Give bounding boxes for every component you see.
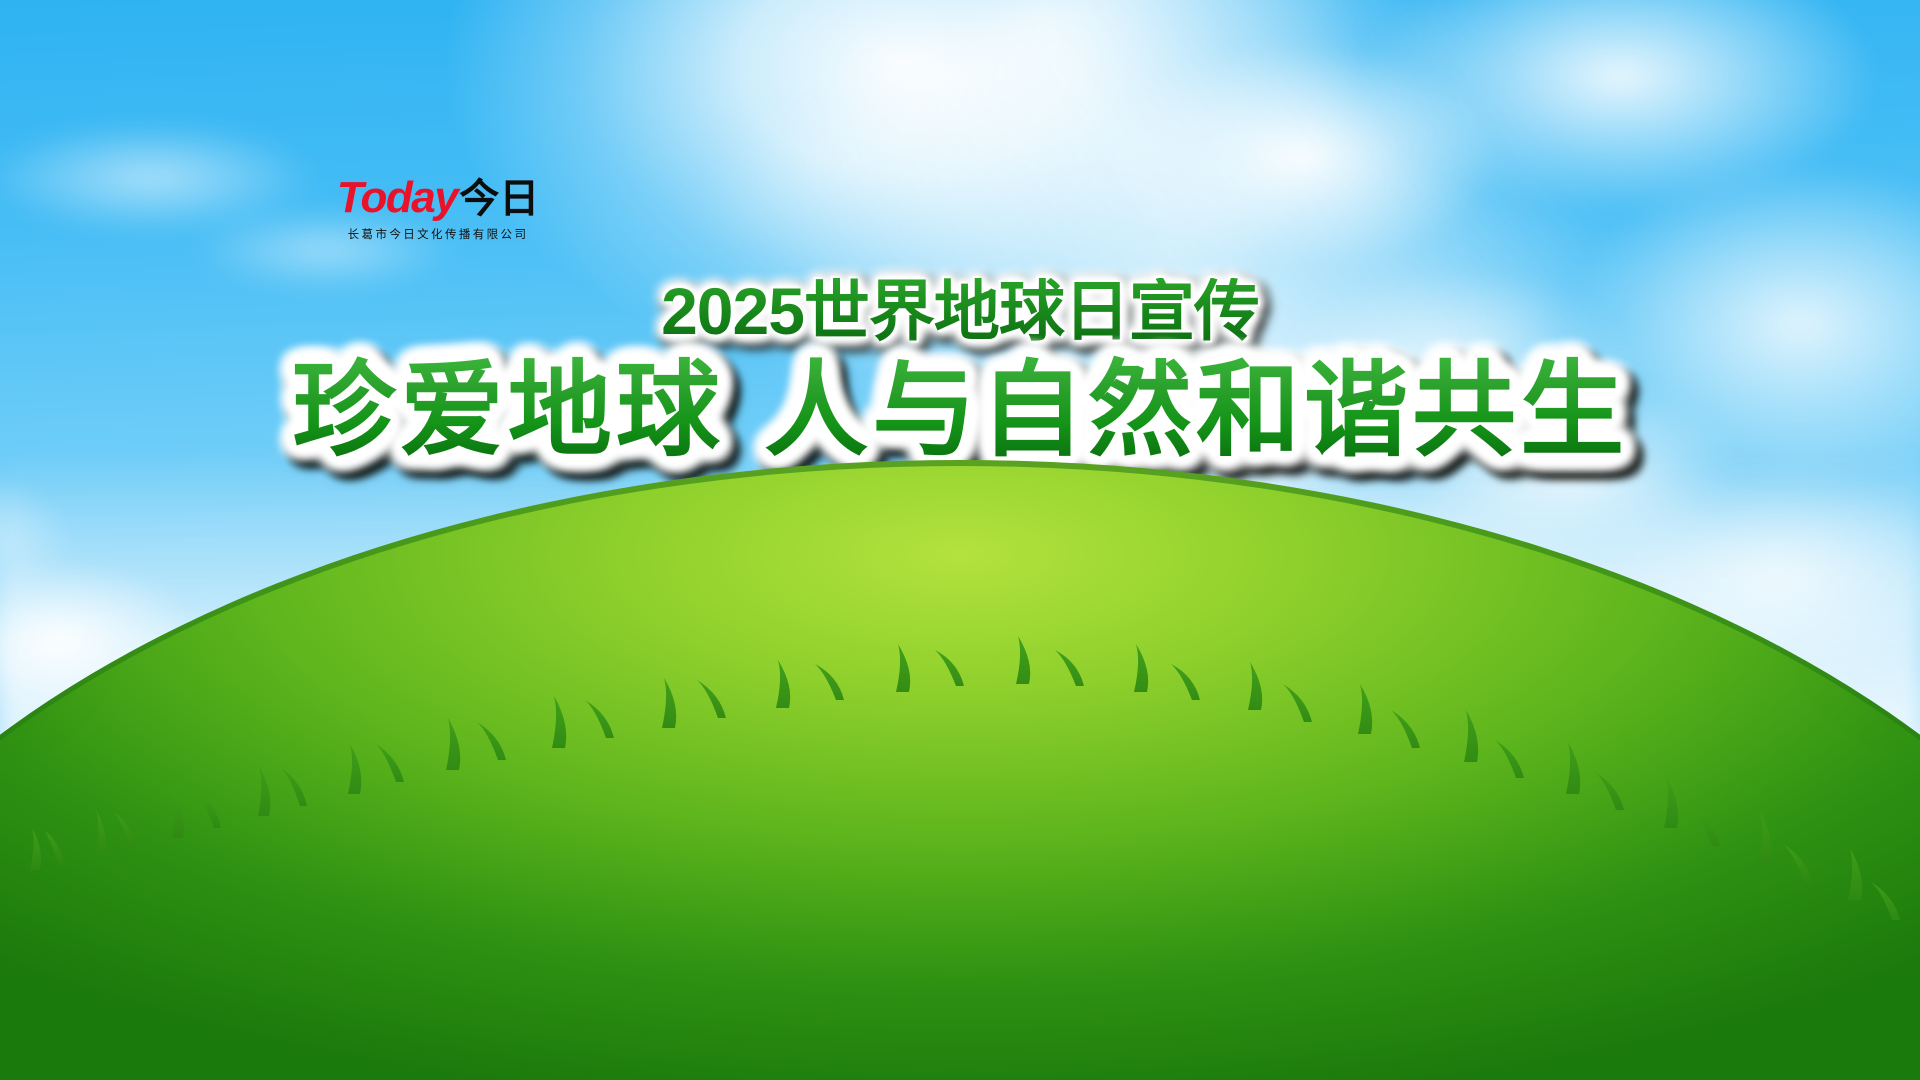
- earth-day-poster: Today今日 长葛市今日文化传播有限公司 2025世界地球日宣传 珍爱地球 人…: [0, 0, 1920, 1080]
- logo-text-en: Today: [337, 173, 457, 222]
- logo-wordmark: Today今日: [328, 176, 548, 220]
- brand-logo[interactable]: Today今日 长葛市今日文化传播有限公司: [328, 176, 548, 242]
- poster-subtitle: 2025世界地球日宣传: [661, 278, 1259, 344]
- company-name: 长葛市今日文化传播有限公司: [328, 226, 548, 242]
- poster-headline: 珍爱地球 人与自然和谐共生: [292, 354, 1628, 466]
- logo-text-cn: 今日: [459, 177, 539, 221]
- title-block: 2025世界地球日宣传 珍爱地球 人与自然和谐共生: [0, 278, 1920, 466]
